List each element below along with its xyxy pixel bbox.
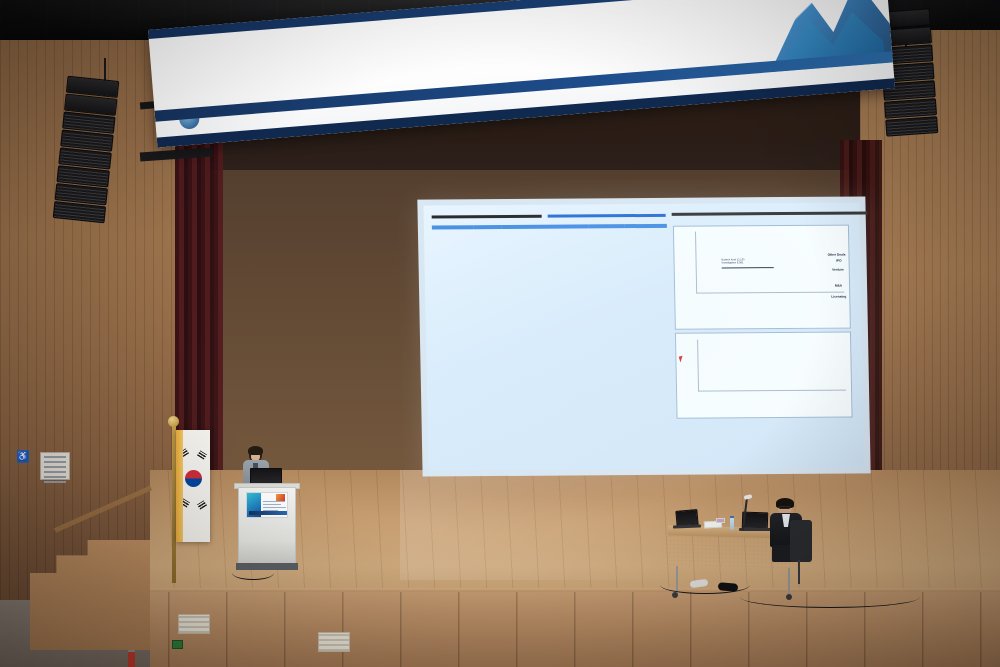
- legend-licensing: Licensing: [831, 295, 846, 299]
- conference-banner: [148, 0, 895, 148]
- flag-hem: [176, 430, 183, 542]
- market-trends-y-axis: [677, 232, 694, 294]
- podium-cable: [232, 566, 274, 580]
- moderator-chair: [790, 520, 812, 562]
- presenter-hair: [248, 446, 263, 455]
- slide-title-rules: [432, 212, 852, 221]
- banner-title: [213, 27, 731, 69]
- table-laptop-right-base: [739, 528, 772, 531]
- podium-event-graphic: [246, 492, 288, 518]
- chart-top-title: [673, 223, 849, 224]
- shoe-right: [718, 582, 739, 592]
- taeguk-circle: [185, 470, 202, 487]
- col-header-moa: [624, 224, 666, 228]
- podium-graphic-bar: [249, 511, 287, 515]
- podium-graphic-accent: [276, 494, 285, 501]
- accessibility-icon: ♿: [17, 450, 29, 463]
- trigram-top-right: [197, 450, 207, 459]
- trigram-bottom-right: [197, 500, 207, 509]
- auditorium-scene: ♿: [0, 0, 1000, 667]
- charts-column: Biotech fund 12,135Investigation 8,081 O…: [673, 223, 853, 419]
- market-size-x-axis: [698, 392, 846, 402]
- wall-notice-board: [40, 452, 70, 480]
- market-trends-annotation: Biotech fund 12,135Investigation 8,081: [722, 258, 745, 265]
- legend-other-deals: Other Deals: [828, 253, 846, 257]
- flag-finial: [168, 416, 179, 427]
- market-size-plot: [679, 339, 848, 402]
- market-trends-x-axis: [696, 294, 844, 304]
- col-header-indication: [502, 224, 589, 229]
- presentation-slide: Biotech fund 12,135Investigation 8,081 O…: [423, 203, 864, 471]
- market-size-bars: [697, 339, 846, 392]
- moderator-glasses: [779, 506, 790, 509]
- market-size-legend: [679, 337, 847, 338]
- table-header-row: [432, 224, 667, 230]
- legend-ipo: IPO: [836, 259, 842, 263]
- table-laptop-right-screen[interactable]: [742, 512, 769, 530]
- market-size-subtitle: [679, 336, 847, 337]
- fire-extinguisher-icon: [128, 648, 135, 667]
- water-bottle-cap: [730, 516, 734, 518]
- market-size-y-axis: [679, 340, 696, 392]
- slide-body: Biotech fund 12,135Investigation 8,081 O…: [432, 223, 856, 421]
- approved-therapies-table: [432, 224, 671, 421]
- legend-m-and-a: M&A: [835, 284, 842, 288]
- market-trends-chart: Biotech fund 12,135Investigation 8,081 O…: [673, 225, 851, 330]
- legend-venture: Venture: [832, 268, 844, 272]
- wall-vent-left: [178, 614, 210, 634]
- emergency-sign-icon: [172, 640, 183, 649]
- water-bottle: [730, 518, 734, 530]
- market-trends-bars: [695, 231, 844, 294]
- col-header-modality: [588, 224, 624, 228]
- market-size-subtitle-2: [679, 336, 847, 337]
- col-header-approved: [474, 225, 502, 229]
- market-size-chart: [675, 332, 853, 419]
- chair-post: [798, 560, 800, 584]
- table-caster-left: [672, 592, 678, 598]
- wall-vent-right: [318, 632, 350, 652]
- col-header-name: [432, 225, 474, 229]
- floor-cable-right: [740, 586, 920, 608]
- market-trends-plot: Biotech fund 12,135Investigation 8,081 O…: [677, 231, 846, 304]
- korean-flag: [176, 430, 210, 542]
- document-folder: [716, 518, 725, 523]
- projection-screen: Biotech fund 12,135Investigation 8,081 O…: [417, 196, 870, 476]
